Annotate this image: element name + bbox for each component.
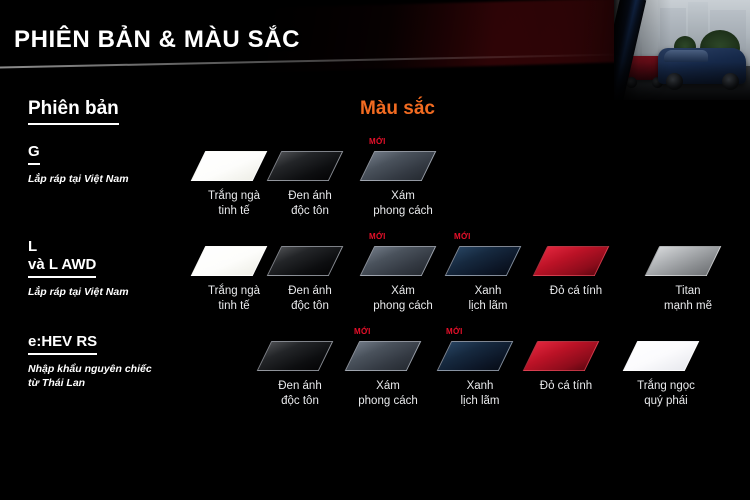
color-chip-black[interactable] (267, 151, 344, 181)
color-chip-titan[interactable] (645, 246, 722, 276)
color-chip-black[interactable] (257, 341, 334, 371)
new-badge: MỚI (369, 232, 386, 241)
variant-and-color-infographic: PHIÊN BẢN & MÀU SẮC Phiên bản Màu sắc G … (0, 0, 750, 500)
color-chip-wrap (252, 333, 348, 377)
color-swatch-item[interactable]: MỚIXanh lịch lãm (432, 333, 528, 377)
color-chip-wrap: MỚI (440, 238, 536, 282)
color-swatch-item[interactable]: MỚIXám phong cách (355, 143, 451, 187)
new-badge: MỚI (354, 327, 371, 336)
color-name-label: Đen ánh độc tôn (262, 189, 358, 219)
color-name-label: Đỏ cá tính (518, 379, 614, 394)
color-chip-wrap: MỚI (355, 238, 451, 282)
color-chip-wrap: MỚI (432, 333, 528, 377)
color-chip-wrap (262, 143, 358, 187)
color-swatch-item[interactable]: Đen ánh độc tôn (252, 333, 348, 377)
color-name-label: Xanh lịch lãm (432, 379, 528, 409)
color-chip-red[interactable] (523, 341, 600, 371)
color-swatch-item[interactable]: Đỏ cá tính (528, 238, 624, 282)
color-name-label: Đỏ cá tính (528, 284, 624, 299)
car-photo (614, 0, 750, 100)
color-chip-blue[interactable] (437, 341, 514, 371)
color-swatch-list: Đen ánh độc tônMỚIXám phong cáchMỚIXanh … (0, 333, 750, 425)
new-badge: MỚI (369, 137, 386, 146)
color-chip-red[interactable] (533, 246, 610, 276)
color-name-label: Đen ánh độc tôn (252, 379, 348, 409)
color-swatch-item[interactable]: Titan mạnh mẽ (640, 238, 736, 282)
new-badge: MỚI (446, 327, 463, 336)
color-chip-gray[interactable] (345, 341, 422, 371)
color-name-label: Xám phong cách (340, 379, 436, 409)
color-name-label: Xám phong cách (355, 189, 451, 219)
color-chip-wrap: MỚI (340, 333, 436, 377)
color-name-label: Xanh lịch lãm (440, 284, 536, 314)
color-swatch-item[interactable]: MỚIXám phong cách (340, 333, 436, 377)
color-swatch-item[interactable]: Trắng ngọc quý phái (618, 333, 714, 377)
page-title: PHIÊN BẢN & MÀU SẮC (14, 26, 300, 54)
new-badge: MỚI (454, 232, 471, 241)
color-chip-gray[interactable] (360, 151, 437, 181)
color-chip-wrap (528, 238, 624, 282)
color-chip-wrap (640, 238, 736, 282)
color-swatch-item[interactable]: MỚIXám phong cách (355, 238, 451, 282)
color-swatch-item[interactable]: Đỏ cá tính (518, 333, 614, 377)
photo-vignette (614, 0, 750, 100)
color-swatch-list: Trắng ngà tinh tếĐen ánh độc tônMỚIXám p… (0, 238, 750, 330)
color-name-label: Trắng ngọc quý phái (618, 379, 714, 409)
color-name-label: Đen ánh độc tôn (262, 284, 358, 314)
color-swatch-item[interactable]: Đen ánh độc tôn (262, 143, 358, 187)
color-chip-wrap: MỚI (355, 143, 451, 187)
color-swatch-item[interactable]: MỚIXanh lịch lãm (440, 238, 536, 282)
color-chip-white[interactable] (191, 151, 268, 181)
color-name-label: Titan mạnh mẽ (640, 284, 736, 314)
heading-colors: Màu sắc (360, 98, 435, 120)
color-name-label: Xám phong cách (355, 284, 451, 314)
color-chip-wrap (618, 333, 714, 377)
color-chip-gray[interactable] (360, 246, 437, 276)
color-chip-wrap (518, 333, 614, 377)
color-chip-pearl[interactable] (623, 341, 700, 371)
color-swatch-list: Trắng ngà tinh tếĐen ánh độc tônMỚIXám p… (0, 143, 750, 235)
color-swatch-item[interactable]: Đen ánh độc tôn (262, 238, 358, 282)
color-chip-blue[interactable] (445, 246, 522, 276)
heading-version: Phiên bản (28, 98, 119, 125)
color-chip-black[interactable] (267, 246, 344, 276)
color-chip-wrap (262, 238, 358, 282)
color-chip-white[interactable] (191, 246, 268, 276)
